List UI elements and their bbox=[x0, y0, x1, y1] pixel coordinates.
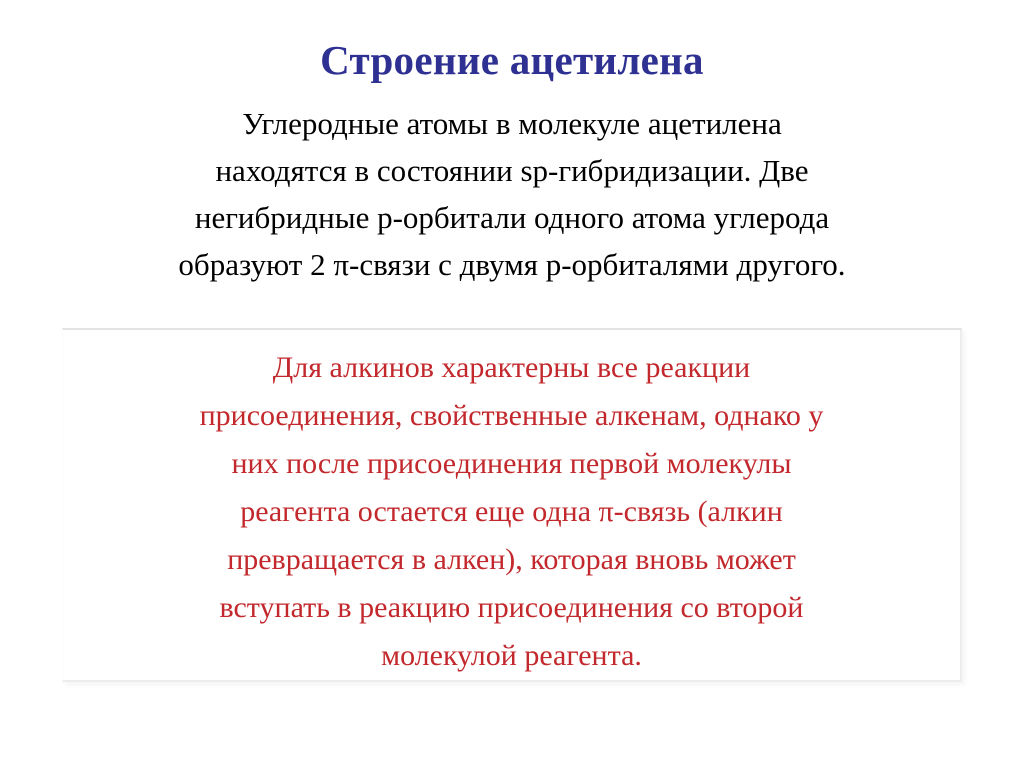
intro-paragraph: Углеродные атомы в молекуле ацетилена на… bbox=[42, 100, 982, 288]
highlight-line: реагента остается еще одна π-связь (алки… bbox=[63, 488, 960, 536]
highlight-line: них после присоединения первой молекулы bbox=[63, 440, 960, 488]
highlight-text-box: Для алкинов характерны все реакции присо… bbox=[62, 328, 962, 682]
slide-canvas: Строение ацетилена Углеродные атомы в мо… bbox=[0, 0, 1024, 767]
page-title: Строение ацетилена bbox=[0, 36, 1024, 84]
highlight-line: вступать в реакцию присоединения со втор… bbox=[63, 584, 960, 632]
highlight-paragraph: Для алкинов характерны все реакции присо… bbox=[63, 344, 960, 680]
intro-line: негибридные p-орбитали одного атома угле… bbox=[42, 194, 982, 241]
highlight-line: присоединения, свойственные алкенам, одн… bbox=[63, 392, 960, 440]
highlight-line: молекулой реагента. bbox=[63, 632, 960, 680]
intro-line: Углеродные атомы в молекуле ацетилена bbox=[42, 100, 982, 147]
highlight-line: превращается в алкен), которая вновь мож… bbox=[63, 536, 960, 584]
highlight-line: Для алкинов характерны все реакции bbox=[63, 344, 960, 392]
intro-line: находятся в состоянии sp-гибридизации. Д… bbox=[42, 147, 982, 194]
intro-line: образуют 2 π-связи с двумя p-орбиталями … bbox=[42, 241, 982, 288]
